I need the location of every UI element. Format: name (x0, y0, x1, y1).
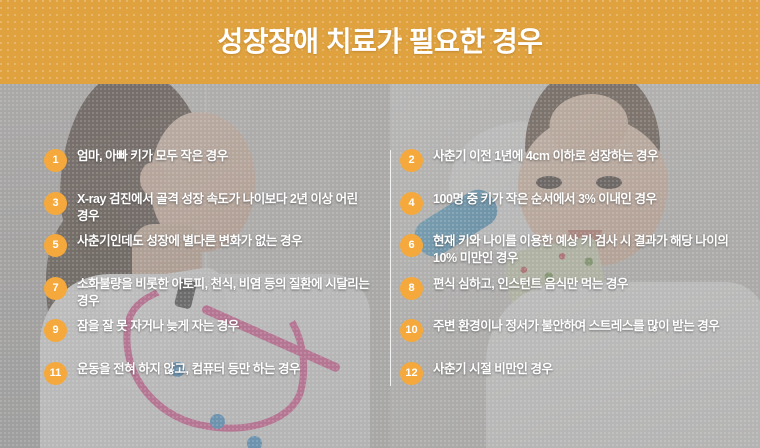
item-text: 엄마, 아빠 키가 모두 작은 경우 (77, 148, 228, 165)
list-item[interactable]: 5 사춘기인데도 성장에 별다른 변화가 없는 경우 (44, 233, 384, 257)
list-item[interactable]: 9 잠을 잘 못 자거나 늦게 자는 경우 (44, 318, 384, 342)
item-number-badge: 6 (400, 234, 423, 257)
list-item[interactable]: 11 운동을 전혀 하지 않고, 컴퓨터 등만 하는 경우 (44, 361, 384, 385)
item-number-badge: 8 (400, 277, 423, 300)
item-number-badge: 1 (44, 149, 67, 172)
item-text: 100명 중 키가 작은 순서에서 3% 이내인 경우 (433, 191, 657, 208)
item-number-badge: 12 (400, 362, 423, 385)
list-item[interactable]: 10 주변 환경이나 정서가 불안하여 스트레스를 많이 받는 경우 (400, 318, 750, 342)
item-number-badge: 9 (44, 319, 67, 342)
list-item[interactable]: 6 현재 키와 나이를 이용한 예상 키 검사 시 결과가 해당 나이의 10%… (400, 233, 750, 267)
item-number-badge: 7 (44, 277, 67, 300)
list-item[interactable]: 7 소화불량을 비롯한 아토피, 천식, 비염 등의 질환에 시달리는 경우 (44, 276, 384, 310)
item-number-badge: 11 (44, 362, 67, 385)
item-number-badge: 10 (400, 319, 423, 342)
list-item[interactable]: 3 X-ray 검진에서 골격 성장 속도가 나이보다 2년 이상 어린 경우 (44, 191, 384, 225)
checklist-column-left: 1 엄마, 아빠 키가 모두 작은 경우 3 X-ray 검진에서 골격 성장 … (44, 84, 384, 448)
item-text: 잠을 잘 못 자거나 늦게 자는 경우 (77, 318, 239, 335)
list-item[interactable]: 2 사춘기 이전 1년에 4cm 이하로 성장하는 경우 (400, 148, 750, 172)
item-text: X-ray 검진에서 골격 성장 속도가 나이보다 2년 이상 어린 경우 (77, 191, 358, 225)
list-item[interactable]: 12 사춘기 시절 비만인 경우 (400, 361, 750, 385)
item-text: 운동을 전혀 하지 않고, 컴퓨터 등만 하는 경우 (77, 361, 300, 378)
item-number-badge: 3 (44, 192, 67, 215)
list-item[interactable]: 1 엄마, 아빠 키가 모두 작은 경우 (44, 148, 384, 172)
checklist-column-right: 2 사춘기 이전 1년에 4cm 이하로 성장하는 경우 4 100명 중 키가… (400, 84, 750, 448)
item-number-badge: 5 (44, 234, 67, 257)
page-title: 성장장애 치료가 필요한 경우 (218, 28, 543, 56)
item-text: 편식 심하고, 인스턴트 음식만 먹는 경우 (433, 276, 628, 293)
list-item[interactable]: 4 100명 중 키가 작은 순서에서 3% 이내인 경우 (400, 191, 750, 215)
header-banner: 성장장애 치료가 필요한 경우 (0, 0, 760, 84)
item-text: 사춘기 시절 비만인 경우 (433, 361, 553, 378)
checklist-layer: 1 엄마, 아빠 키가 모두 작은 경우 3 X-ray 검진에서 골격 성장 … (0, 84, 760, 448)
item-text: 현재 키와 나이를 이용한 예상 키 검사 시 결과가 해당 나이의 10% 미… (433, 233, 728, 267)
item-text: 사춘기인데도 성장에 별다른 변화가 없는 경우 (77, 233, 302, 250)
column-divider (390, 150, 391, 386)
item-text: 사춘기 이전 1년에 4cm 이하로 성장하는 경우 (433, 148, 658, 165)
item-text: 주변 환경이나 정서가 불안하여 스트레스를 많이 받는 경우 (433, 318, 719, 335)
item-number-badge: 2 (400, 149, 423, 172)
list-item[interactable]: 8 편식 심하고, 인스턴트 음식만 먹는 경우 (400, 276, 750, 300)
growth-disorder-infographic: 성장장애 치료가 필요한 경우 (0, 0, 760, 448)
item-text: 소화불량을 비롯한 아토피, 천식, 비염 등의 질환에 시달리는 경우 (77, 276, 369, 310)
item-number-badge: 4 (400, 192, 423, 215)
